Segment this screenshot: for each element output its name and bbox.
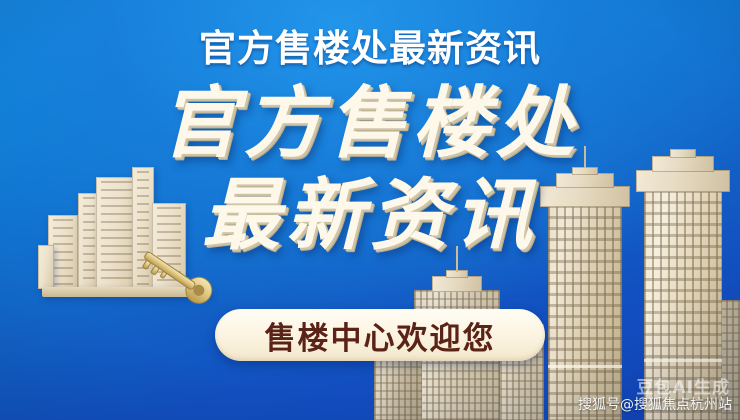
kicker-heading: 官方售楼处最新资讯 bbox=[0, 18, 740, 72]
cluster-block-e bbox=[38, 245, 54, 289]
cta-button-label: 售楼中心欢迎您 bbox=[265, 313, 496, 358]
tower-crown-right bbox=[636, 170, 730, 192]
tower-finial-center bbox=[572, 167, 598, 175]
cta-button[interactable]: 售楼中心欢迎您 bbox=[215, 309, 545, 361]
tower-spire-center bbox=[584, 146, 586, 168]
skyline-antenna-left bbox=[456, 246, 458, 272]
source-watermark: 搜狐号@搜狐焦点杭州站 bbox=[578, 394, 732, 414]
left-building-cluster bbox=[36, 168, 216, 303]
skyline-block-left-crown bbox=[432, 276, 482, 292]
tower-crown-right-upper bbox=[652, 156, 714, 172]
window-grid bbox=[548, 205, 622, 420]
tower-crown-center bbox=[540, 186, 630, 207]
skyline-tower-center bbox=[548, 205, 622, 420]
facade-band bbox=[644, 359, 722, 362]
tower-finial-right bbox=[670, 149, 696, 158]
window-stripes bbox=[101, 181, 133, 285]
promo-banner: 官方售楼处最新资讯 官方售楼处 最新资讯 售楼中心欢迎您 豆包AI生成 搜狐号@… bbox=[0, 0, 740, 420]
window-stripes bbox=[53, 219, 73, 285]
tower-crown-center-upper bbox=[556, 173, 614, 188]
facade-band bbox=[548, 365, 622, 368]
window-stripes bbox=[83, 197, 95, 285]
